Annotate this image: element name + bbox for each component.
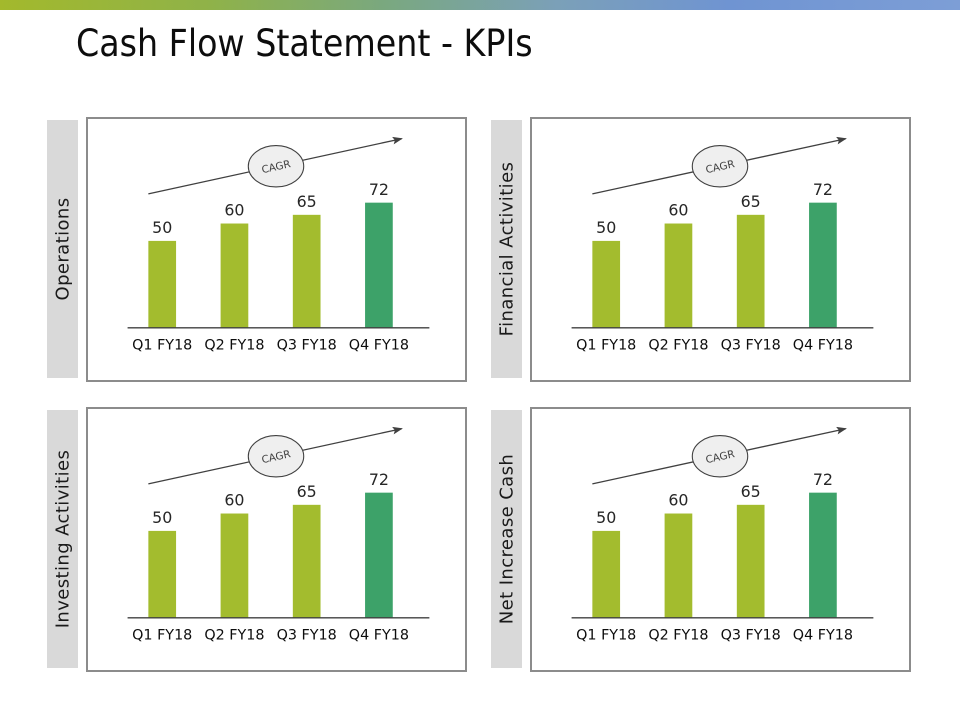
panel-title-label: Investing Activities bbox=[52, 450, 73, 629]
category-label: Q1 FY18 bbox=[576, 337, 636, 353]
chart-container: CAGR50Q1 FY1860Q2 FY1865Q3 FY1872Q4 FY18 bbox=[530, 117, 911, 382]
bar-value-label: 60 bbox=[224, 201, 244, 220]
bar bbox=[221, 514, 249, 618]
bar-value-label: 72 bbox=[813, 180, 833, 199]
bar-value-label: 60 bbox=[668, 201, 688, 220]
chart-container: CAGR50Q1 FY1860Q2 FY1865Q3 FY1872Q4 FY18 bbox=[86, 407, 467, 672]
kpi-panel-financial-activities: Financial Activities CAGR50Q1 FY1860Q2 F… bbox=[491, 117, 913, 385]
chart-container: CAGR50Q1 FY1860Q2 FY1865Q3 FY1872Q4 FY18 bbox=[530, 407, 911, 672]
accent-gradient-bar bbox=[0, 0, 960, 10]
bar bbox=[592, 241, 620, 328]
bar bbox=[737, 505, 765, 618]
bar-value-label: 72 bbox=[369, 470, 389, 489]
bar bbox=[293, 215, 321, 328]
category-label: Q3 FY18 bbox=[277, 627, 337, 643]
category-label: Q4 FY18 bbox=[793, 337, 853, 353]
bar-value-label: 65 bbox=[297, 192, 317, 211]
panel-title-label: Operations bbox=[52, 198, 73, 301]
panel-sidebar: Operations bbox=[47, 120, 78, 378]
bar bbox=[293, 505, 321, 618]
chart-container: CAGR50Q1 FY1860Q2 FY1865Q3 FY1872Q4 FY18 bbox=[86, 117, 467, 382]
bar-value-label: 65 bbox=[297, 482, 317, 501]
bar-value-label: 72 bbox=[369, 180, 389, 199]
bar-value-label: 65 bbox=[741, 192, 761, 211]
bar-value-label: 60 bbox=[668, 491, 688, 510]
category-label: Q4 FY18 bbox=[349, 337, 409, 353]
panel-sidebar: Financial Activities bbox=[491, 120, 522, 378]
panel-sidebar: Investing Activities bbox=[47, 410, 78, 668]
bar bbox=[148, 531, 176, 618]
bar bbox=[148, 241, 176, 328]
category-label: Q1 FY18 bbox=[132, 627, 192, 643]
bar bbox=[221, 224, 249, 328]
category-label: Q2 FY18 bbox=[204, 337, 264, 353]
panel-title-label: Financial Activities bbox=[496, 162, 517, 337]
bar-chart-investing-activities: CAGR50Q1 FY1860Q2 FY1865Q3 FY1872Q4 FY18 bbox=[88, 409, 465, 670]
category-label: Q1 FY18 bbox=[576, 627, 636, 643]
bar-value-label: 50 bbox=[152, 218, 172, 237]
kpi-panel-operations: Operations CAGR50Q1 FY1860Q2 FY1865Q3 FY… bbox=[47, 117, 469, 385]
bar bbox=[809, 203, 837, 328]
category-label: Q2 FY18 bbox=[204, 627, 264, 643]
category-label: Q3 FY18 bbox=[277, 337, 337, 353]
category-label: Q1 FY18 bbox=[132, 337, 192, 353]
panel-title-label: Net Increase Cash bbox=[496, 454, 517, 624]
category-label: Q4 FY18 bbox=[793, 627, 853, 643]
bar bbox=[365, 203, 393, 328]
bar-value-label: 50 bbox=[152, 508, 172, 527]
kpi-panel-net-increase-cash: Net Increase Cash CAGR50Q1 FY1860Q2 FY18… bbox=[491, 407, 913, 675]
page-title: Cash Flow Statement - KPIs bbox=[76, 20, 916, 68]
kpi-panel-investing-activities: Investing Activities CAGR50Q1 FY1860Q2 F… bbox=[47, 407, 469, 675]
bar-value-label: 60 bbox=[224, 491, 244, 510]
bar bbox=[665, 224, 693, 328]
bar-value-label: 65 bbox=[741, 482, 761, 501]
bar bbox=[737, 215, 765, 328]
category-label: Q3 FY18 bbox=[721, 627, 781, 643]
bar bbox=[809, 493, 837, 618]
bar bbox=[592, 531, 620, 618]
bar-chart-financial-activities: CAGR50Q1 FY1860Q2 FY1865Q3 FY1872Q4 FY18 bbox=[532, 119, 909, 380]
category-label: Q2 FY18 bbox=[648, 337, 708, 353]
bar bbox=[365, 493, 393, 618]
category-label: Q3 FY18 bbox=[721, 337, 781, 353]
bar-value-label: 72 bbox=[813, 470, 833, 489]
bar-value-label: 50 bbox=[596, 218, 616, 237]
category-label: Q2 FY18 bbox=[648, 627, 708, 643]
bar bbox=[665, 514, 693, 618]
bar-chart-net-increase-cash: CAGR50Q1 FY1860Q2 FY1865Q3 FY1872Q4 FY18 bbox=[532, 409, 909, 670]
bar-value-label: 50 bbox=[596, 508, 616, 527]
bar-chart-operations: CAGR50Q1 FY1860Q2 FY1865Q3 FY1872Q4 FY18 bbox=[88, 119, 465, 380]
panel-sidebar: Net Increase Cash bbox=[491, 410, 522, 668]
category-label: Q4 FY18 bbox=[349, 627, 409, 643]
